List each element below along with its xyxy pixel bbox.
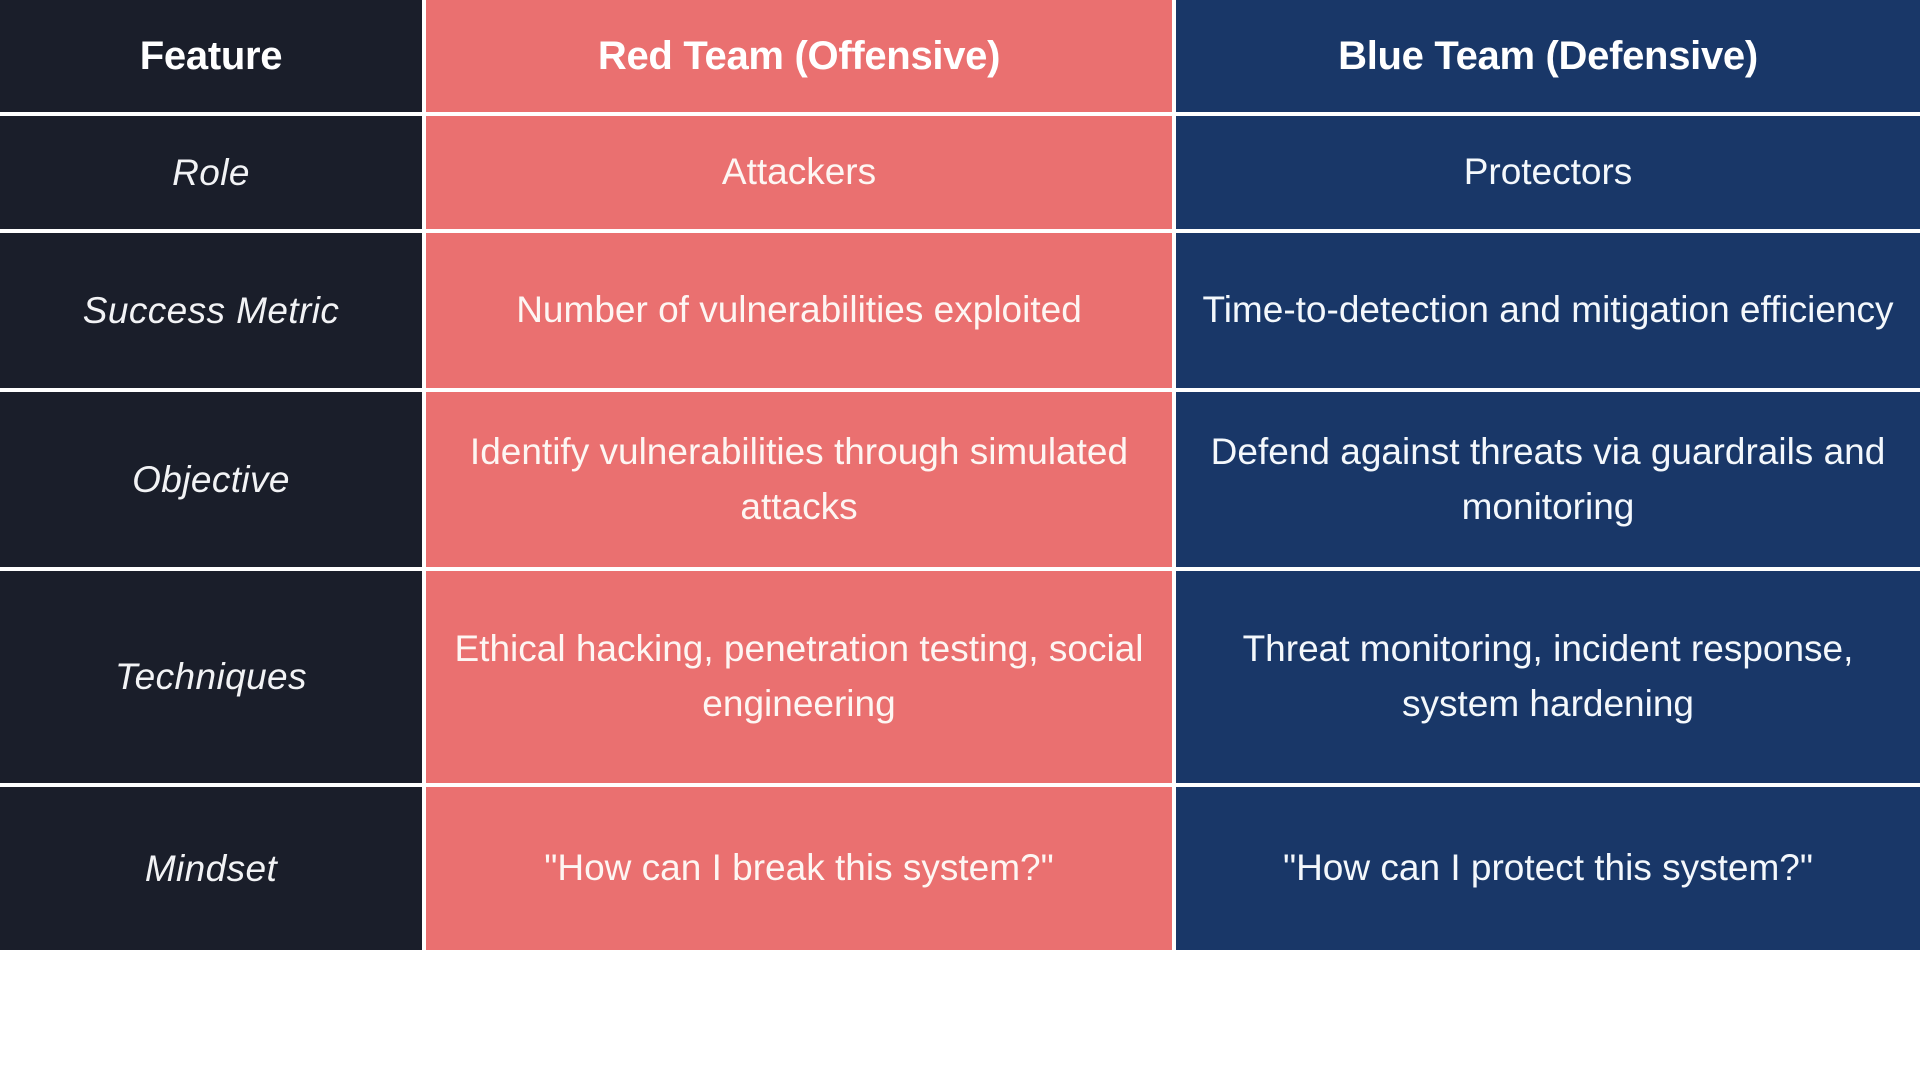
feature-label-role: Role <box>22 152 400 194</box>
header-cell-red-team: Red Team (Offensive) <box>426 0 1172 112</box>
red-value-objective: Identify vulnerabilities through simulat… <box>448 425 1150 535</box>
blue-cell-success-metric: Time-to-detection and mitigation efficie… <box>1176 233 1920 388</box>
blue-value-techniques: Threat monitoring, incident response, sy… <box>1198 622 1898 732</box>
header-label-red-team: Red Team (Offensive) <box>448 34 1150 79</box>
feature-label-techniques: Techniques <box>22 656 400 698</box>
red-value-techniques: Ethical hacking, penetration testing, so… <box>448 622 1150 732</box>
feature-cell-mindset: Mindset <box>0 787 422 950</box>
blue-value-objective: Defend against threats via guardrails an… <box>1198 425 1898 535</box>
feature-cell-role: Role <box>0 116 422 229</box>
red-cell-techniques: Ethical hacking, penetration testing, so… <box>426 571 1172 783</box>
blue-cell-mindset: "How can I protect this system?" <box>1176 787 1920 950</box>
table-row: Techniques Ethical hacking, penetration … <box>0 571 1920 783</box>
table-row: Mindset "How can I break this system?" "… <box>0 787 1920 950</box>
header-cell-feature: Feature <box>0 0 422 112</box>
table-row: Success Metric Number of vulnerabilities… <box>0 233 1920 388</box>
red-cell-success-metric: Number of vulnerabilities exploited <box>426 233 1172 388</box>
blue-cell-role: Protectors <box>1176 116 1920 229</box>
header-label-feature: Feature <box>22 34 400 79</box>
red-value-success-metric: Number of vulnerabilities exploited <box>448 283 1150 338</box>
red-cell-mindset: "How can I break this system?" <box>426 787 1172 950</box>
blue-value-mindset: "How can I protect this system?" <box>1198 841 1898 896</box>
blue-value-role: Protectors <box>1198 145 1898 200</box>
red-cell-objective: Identify vulnerabilities through simulat… <box>426 392 1172 567</box>
header-label-blue-team: Blue Team (Defensive) <box>1198 34 1898 79</box>
feature-label-mindset: Mindset <box>22 848 400 890</box>
comparison-table: Feature Red Team (Offensive) Blue Team (… <box>0 0 1920 1080</box>
feature-label-objective: Objective <box>22 459 400 501</box>
red-value-role: Attackers <box>448 145 1150 200</box>
blue-value-success-metric: Time-to-detection and mitigation efficie… <box>1198 283 1898 338</box>
red-cell-role: Attackers <box>426 116 1172 229</box>
feature-cell-objective: Objective <box>0 392 422 567</box>
feature-cell-techniques: Techniques <box>0 571 422 783</box>
blue-cell-techniques: Threat monitoring, incident response, sy… <box>1176 571 1920 783</box>
table-header-row: Feature Red Team (Offensive) Blue Team (… <box>0 0 1920 112</box>
table-row: Role Attackers Protectors <box>0 116 1920 229</box>
feature-label-success-metric: Success Metric <box>22 290 400 332</box>
header-cell-blue-team: Blue Team (Defensive) <box>1176 0 1920 112</box>
feature-cell-success-metric: Success Metric <box>0 233 422 388</box>
red-value-mindset: "How can I break this system?" <box>448 841 1150 896</box>
blue-cell-objective: Defend against threats via guardrails an… <box>1176 392 1920 567</box>
table-row: Objective Identify vulnerabilities throu… <box>0 392 1920 567</box>
